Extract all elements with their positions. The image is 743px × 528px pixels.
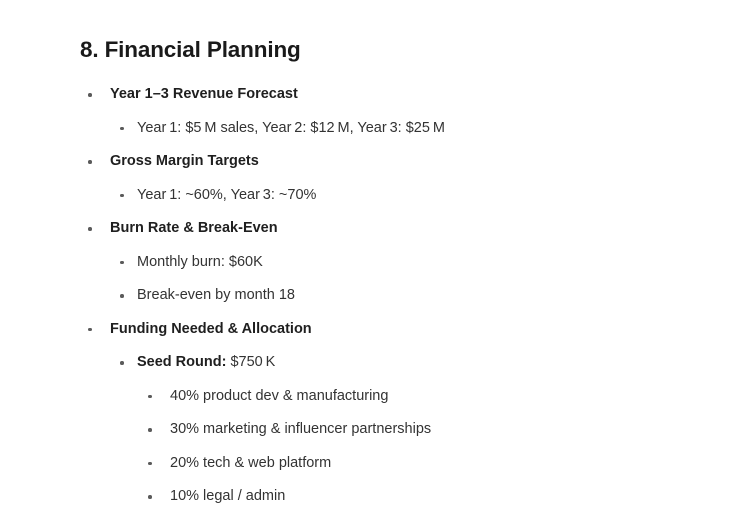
bullet-icon xyxy=(148,428,152,432)
list-item: Seed Round: $750 K xyxy=(0,346,743,380)
list-item: Year 1: $5 M sales, Year 2: $12 M, Year … xyxy=(0,112,743,146)
list-item-label: Gross Margin Targets xyxy=(110,151,259,172)
list-item-label: 40% product dev & manufacturing xyxy=(170,386,388,407)
list-item-label: Year 1–3 Revenue Forecast xyxy=(110,84,298,105)
list-item: 20% tech & web platform xyxy=(0,447,743,481)
list-item-label-value: $750 K xyxy=(226,354,275,370)
list-item-label-strong: Seed Round: xyxy=(137,354,226,370)
outline-list: Year 1–3 Revenue ForecastYear 1: $5 M sa… xyxy=(0,78,743,514)
list-item: 30% marketing & influencer partnerships xyxy=(0,413,743,447)
bullet-icon xyxy=(88,227,92,231)
list-item: Year 1–3 Revenue Forecast xyxy=(0,78,743,112)
bullet-icon xyxy=(148,495,152,499)
bullet-icon xyxy=(88,160,92,164)
list-item-label: 30% marketing & influencer partnerships xyxy=(170,419,431,440)
list-item-label: Year 1: $5 M sales, Year 2: $12 M, Year … xyxy=(137,118,445,139)
list-item: Funding Needed & Allocation xyxy=(0,313,743,347)
list-item: 40% product dev & manufacturing xyxy=(0,380,743,414)
page-title: 8. Financial Planning xyxy=(80,36,301,64)
list-item-label: Break-even by month 18 xyxy=(137,285,295,306)
bullet-icon xyxy=(120,361,124,365)
list-item-label: Year 1: ~60%, Year 3: ~70% xyxy=(137,185,316,206)
list-item: Break-even by month 18 xyxy=(0,279,743,313)
bullet-icon xyxy=(88,93,92,97)
document-page: 8. Financial Planning Year 1–3 Revenue F… xyxy=(0,0,743,528)
list-item: Monthly burn: $60K xyxy=(0,246,743,280)
list-item-label: 20% tech & web platform xyxy=(170,453,331,474)
bullet-icon xyxy=(120,127,124,131)
list-item: Year 1: ~60%, Year 3: ~70% xyxy=(0,179,743,213)
bullet-icon xyxy=(148,395,152,399)
list-item: Gross Margin Targets xyxy=(0,145,743,179)
list-item-label: Seed Round: $750 K xyxy=(137,352,275,373)
list-item: Burn Rate & Break-Even xyxy=(0,212,743,246)
bullet-icon xyxy=(120,294,124,298)
list-item-label: Monthly burn: $60K xyxy=(137,252,263,273)
list-item-label: Burn Rate & Break-Even xyxy=(110,218,278,239)
bullet-icon xyxy=(88,328,92,332)
list-item-label: Funding Needed & Allocation xyxy=(110,319,312,340)
bullet-icon xyxy=(120,194,124,198)
list-item: 10% legal / admin xyxy=(0,480,743,514)
bullet-icon xyxy=(148,462,152,466)
bullet-icon xyxy=(120,261,124,265)
list-item-label: 10% legal / admin xyxy=(170,486,285,507)
